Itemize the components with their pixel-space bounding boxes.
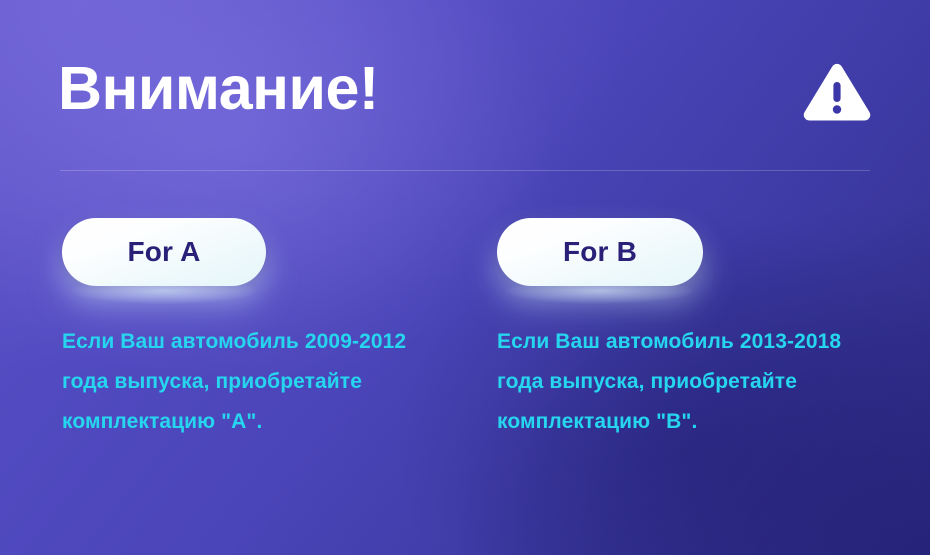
- for-a-button-label: For A: [62, 218, 266, 286]
- for-a-button[interactable]: For A: [62, 218, 266, 286]
- option-b-description: Если Ваш автомобиль 2013-2018 года выпус…: [497, 286, 887, 442]
- for-b-button[interactable]: For B: [497, 218, 703, 286]
- options-container: For A Если Ваш автомобиль 2009-2012 года…: [0, 218, 930, 488]
- page-title: Внимание!: [58, 52, 379, 124]
- option-column-a: For A Если Ваш автомобиль 2009-2012 года…: [62, 218, 462, 442]
- for-b-button-label: For B: [497, 218, 703, 286]
- attention-banner: Внимание! For A Если Ваш автомобиль 2009…: [0, 0, 930, 555]
- header-divider: [60, 170, 870, 171]
- option-column-b: For B Если Ваш автомобиль 2013-2018 года…: [497, 218, 897, 442]
- option-a-description: Если Ваш автомобиль 2009-2012 года выпус…: [62, 286, 452, 442]
- warning-triangle-icon: [802, 62, 872, 124]
